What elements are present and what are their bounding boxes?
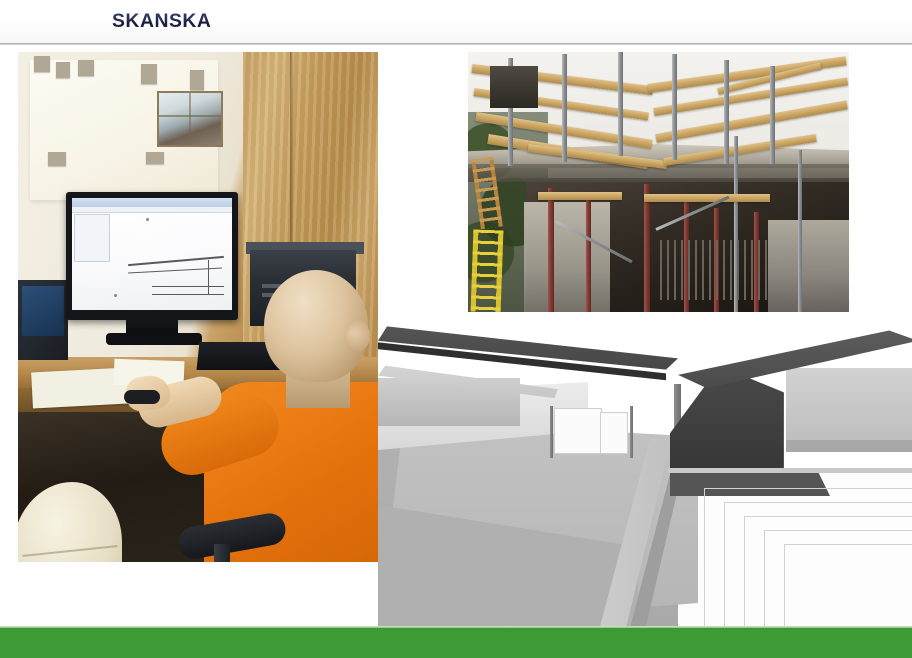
plaza-edge-strip bbox=[668, 468, 912, 473]
cad-side-panel bbox=[74, 214, 110, 262]
red-scaffold-pole bbox=[644, 184, 650, 312]
cad-drawing-line bbox=[152, 286, 224, 287]
presentation-slide: SKANSKA bbox=[0, 0, 912, 658]
monitor-base bbox=[106, 333, 202, 345]
glass-panel bbox=[554, 408, 602, 454]
ear bbox=[344, 320, 370, 352]
rebar-cage bbox=[660, 240, 770, 300]
wall-panel bbox=[768, 220, 849, 312]
computer-monitor bbox=[66, 192, 238, 320]
construction-site-photo bbox=[468, 52, 849, 312]
window-mullion bbox=[189, 93, 191, 145]
whiteboard-clip bbox=[190, 70, 204, 90]
whiteboard-clip bbox=[48, 152, 66, 166]
whiteboard-clip bbox=[34, 56, 50, 72]
cad-drawing-line bbox=[208, 260, 209, 294]
red-scaffold-pole bbox=[548, 188, 554, 312]
structural-column bbox=[550, 406, 553, 458]
skanska-logo: SKANSKA bbox=[112, 11, 211, 33]
whiteboard-clip bbox=[141, 64, 157, 84]
scaffold-pole bbox=[798, 150, 802, 312]
scaffold-pole bbox=[618, 52, 623, 156]
dark-equipment-box bbox=[490, 66, 538, 108]
monitor-stand bbox=[126, 318, 178, 334]
building-wall-right-cap bbox=[786, 440, 912, 452]
wall-panel bbox=[524, 202, 610, 312]
office-window bbox=[157, 91, 223, 147]
scaffold-pole bbox=[562, 54, 567, 162]
paving-outline bbox=[784, 544, 912, 628]
monitor-screen bbox=[72, 198, 232, 310]
chair-post bbox=[214, 544, 230, 562]
scaffold-pole bbox=[672, 54, 677, 160]
whiteboard-clip bbox=[56, 62, 70, 78]
cad-marker bbox=[114, 294, 117, 297]
slide-header: SKANSKA bbox=[0, 0, 912, 44]
header-divider bbox=[0, 43, 912, 45]
building-wall-right bbox=[786, 368, 912, 450]
bim-3d-render bbox=[378, 320, 912, 628]
office-workstation-photo bbox=[18, 52, 378, 562]
cad-toolbar bbox=[72, 198, 232, 207]
computer-mouse bbox=[124, 390, 160, 404]
cad-drawing-line bbox=[152, 294, 224, 295]
red-scaffold-pole bbox=[586, 194, 591, 312]
cad-toolbar-secondary bbox=[72, 207, 232, 213]
whiteboard-clip bbox=[78, 60, 94, 76]
cad-marker bbox=[146, 218, 149, 221]
cad-drawing-line bbox=[128, 256, 224, 266]
scaffold-pole bbox=[724, 60, 729, 164]
footer-green-bar bbox=[0, 628, 912, 658]
scaffold-platform-plank bbox=[538, 192, 622, 200]
laptop-screen bbox=[22, 286, 64, 336]
scaffold-platform-plank bbox=[644, 194, 770, 202]
yellow-step-ladder bbox=[471, 230, 504, 312]
structural-column bbox=[630, 406, 633, 458]
laptop bbox=[18, 280, 68, 360]
scaffold-pole bbox=[770, 66, 775, 164]
whiteboard-clip bbox=[146, 152, 164, 164]
glass-panel bbox=[600, 412, 628, 454]
